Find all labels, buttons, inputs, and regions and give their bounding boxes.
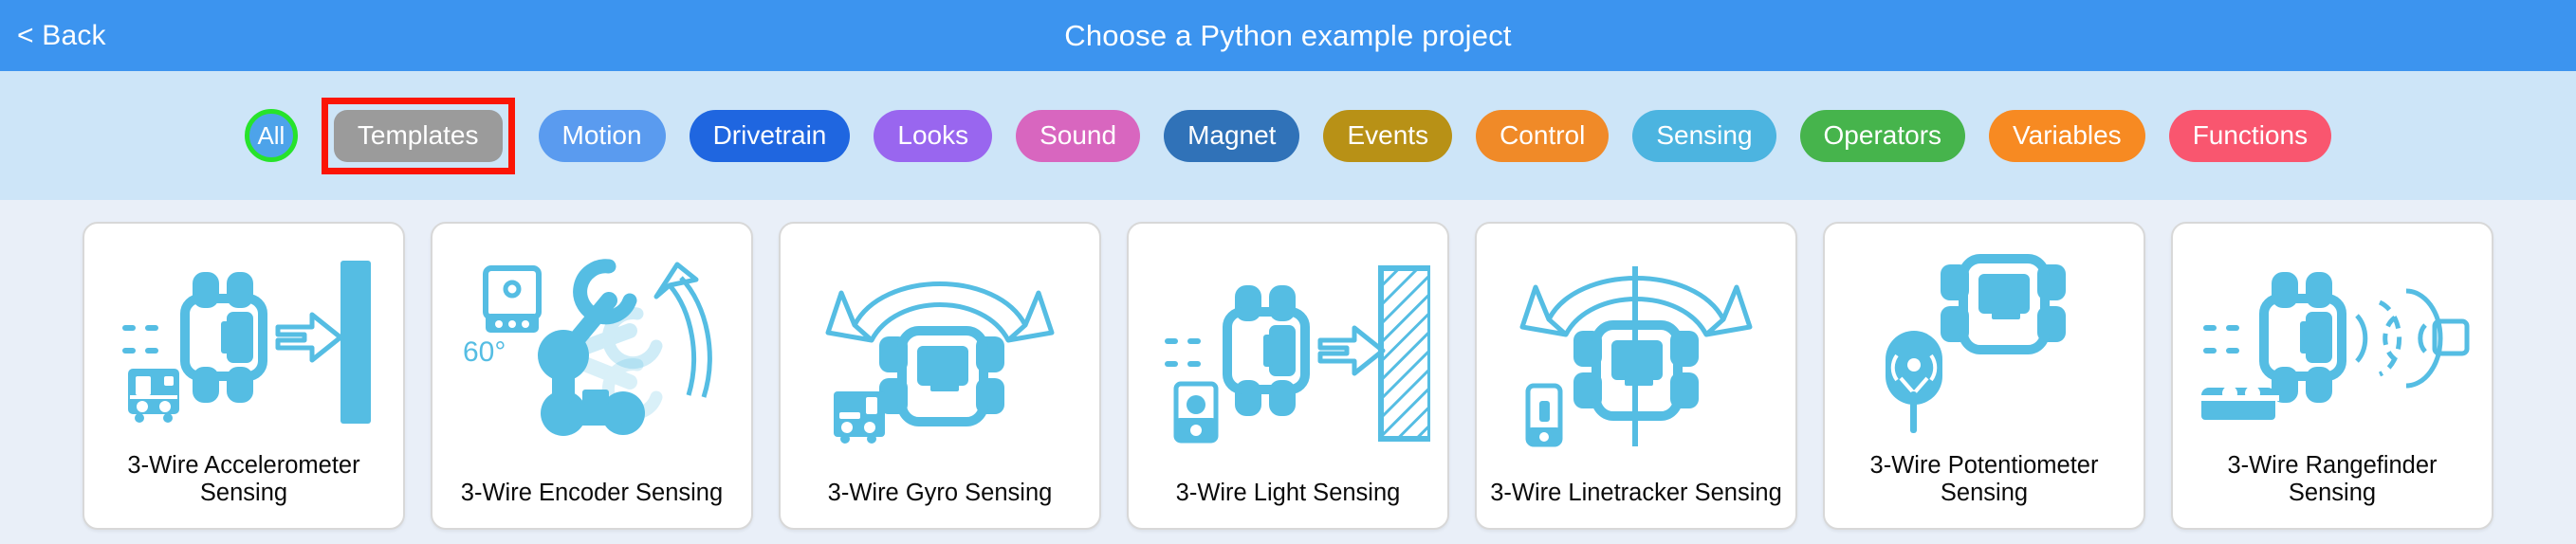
project-card-potentiometer[interactable]: 3-Wire Potentiometer Sensing — [1823, 222, 2145, 530]
project-card-rangefinder[interactable]: 3-Wire Rangefinder Sensing — [2171, 222, 2493, 530]
filter-chip-events[interactable]: Events — [1323, 110, 1452, 162]
filter-chip-functions[interactable]: Functions — [2169, 110, 2331, 162]
category-filter-bar: All Templates Motion Drivetrain Looks So… — [0, 71, 2576, 200]
filter-chip-all-label: All — [257, 121, 285, 151]
project-card-title: 3-Wire Accelerometer Sensing — [84, 452, 403, 528]
project-card-light[interactable]: 3-Wire Light Sensing — [1127, 222, 1449, 530]
filter-chip-drivetrain[interactable]: Drivetrain — [690, 110, 851, 162]
filter-chip-operators-label: Operators — [1824, 120, 1942, 151]
filter-chip-all[interactable]: All — [245, 109, 298, 162]
project-card-title: 3-Wire Linetracker Sensing — [1477, 480, 1795, 528]
filter-chip-templates[interactable]: Templates — [334, 110, 503, 162]
filter-chip-drivetrain-label: Drivetrain — [713, 120, 827, 151]
gyro-robot-turn-icon — [781, 224, 1099, 480]
linetracker-robot-line-icon — [1477, 224, 1795, 480]
filter-chip-sensing-label: Sensing — [1656, 120, 1752, 151]
project-card-accelerometer[interactable]: 3-Wire Accelerometer Sensing — [83, 222, 405, 530]
light-sensor-robot-hatched-wall-icon — [1129, 224, 1447, 480]
filter-chip-motion-label: Motion — [562, 120, 642, 151]
filter-chip-sound[interactable]: Sound — [1016, 110, 1140, 162]
filter-chip-sensing[interactable]: Sensing — [1632, 110, 1776, 162]
filter-chip-events-label: Events — [1347, 120, 1428, 151]
page-title: Choose a Python example project — [0, 19, 2576, 53]
project-card-title: 3-Wire Encoder Sensing — [432, 480, 751, 528]
filter-chip-operators[interactable]: Operators — [1800, 110, 1966, 162]
encoder-angle-annotation: 60° — [463, 336, 506, 368]
filter-chip-variables-label: Variables — [2013, 120, 2122, 151]
filter-chip-variables[interactable]: Variables — [1989, 110, 2145, 162]
filter-chip-control[interactable]: Control — [1476, 110, 1609, 162]
filter-chip-templates-highlight: Templates — [322, 98, 515, 174]
rangefinder-robot-sonar-icon — [2173, 224, 2492, 452]
app-header: < Back Choose a Python example project — [0, 0, 2576, 71]
project-card-title: 3-Wire Gyro Sensing — [781, 480, 1099, 528]
filter-chip-control-label: Control — [1500, 120, 1585, 151]
potentiometer-robot-icon — [1825, 224, 2144, 452]
filter-chip-magnet-label: Magnet — [1187, 120, 1276, 151]
filter-chip-looks[interactable]: Looks — [874, 110, 992, 162]
accelerometer-robot-wall-icon — [84, 224, 403, 452]
filter-chip-sound-label: Sound — [1040, 120, 1116, 151]
filter-chip-templates-label: Templates — [358, 120, 479, 151]
filter-chip-motion[interactable]: Motion — [539, 110, 666, 162]
project-card-gyro[interactable]: 3-Wire Gyro Sensing — [779, 222, 1101, 530]
filter-chip-functions-label: Functions — [2193, 120, 2308, 151]
project-card-title: 3-Wire Light Sensing — [1129, 480, 1447, 528]
filter-chip-looks-label: Looks — [897, 120, 968, 151]
back-button[interactable]: < Back — [9, 16, 114, 56]
example-project-grid: 3-Wire Accelerometer Sensing 60° — [0, 200, 2576, 544]
encoder-rotating-arm-icon: 60° — [432, 224, 751, 480]
project-card-title: 3-Wire Potentiometer Sensing — [1825, 452, 2144, 528]
project-card-encoder[interactable]: 60° — [431, 222, 753, 530]
project-card-title: 3-Wire Rangefinder Sensing — [2173, 452, 2492, 528]
project-card-linetracker[interactable]: 3-Wire Linetracker Sensing — [1475, 222, 1797, 530]
filter-chip-magnet[interactable]: Magnet — [1164, 110, 1299, 162]
